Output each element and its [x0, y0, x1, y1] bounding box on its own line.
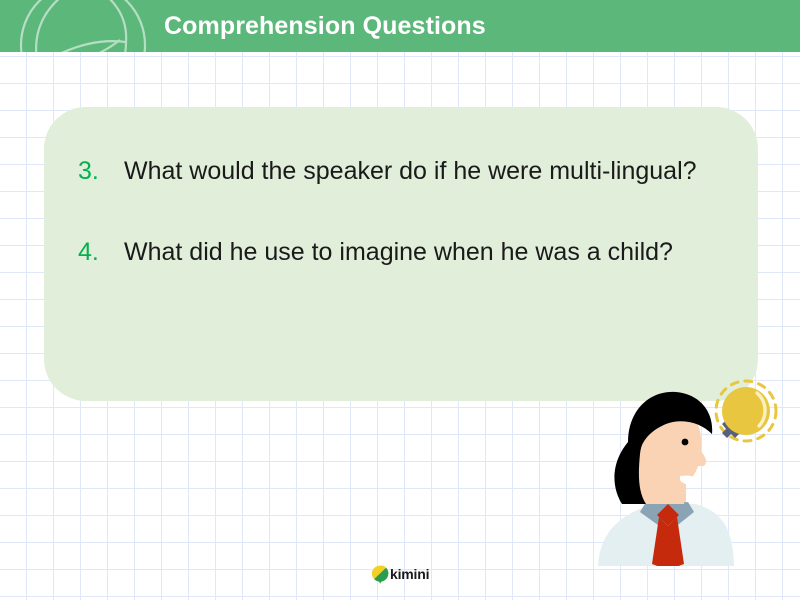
question-number: 4. [78, 226, 124, 279]
question-card: 3. What would the speaker do if he were … [44, 107, 758, 401]
eye-shape [682, 439, 689, 446]
footer-brand: kimini [371, 563, 429, 585]
man-with-idea-lightbulb-illustration [588, 376, 800, 566]
question-text: What did he use to imagine when he was a… [124, 226, 704, 279]
question-number: 3. [78, 145, 124, 198]
slide-canvas: Comprehension Questions 3. What would th… [0, 0, 800, 600]
header-bar: Comprehension Questions [0, 0, 800, 52]
kimini-leaf-logo-icon [8, 0, 158, 52]
kimini-balloon-icon [371, 565, 389, 584]
footer-brand-name: kimini [390, 566, 429, 582]
question-text: What would the speaker do if he were mul… [124, 145, 704, 198]
lightbulb-body-icon [722, 387, 770, 435]
question-item: 3. What would the speaker do if he were … [78, 145, 724, 198]
question-item: 4. What did he use to imagine when he wa… [78, 226, 724, 279]
page-title: Comprehension Questions [164, 0, 486, 52]
